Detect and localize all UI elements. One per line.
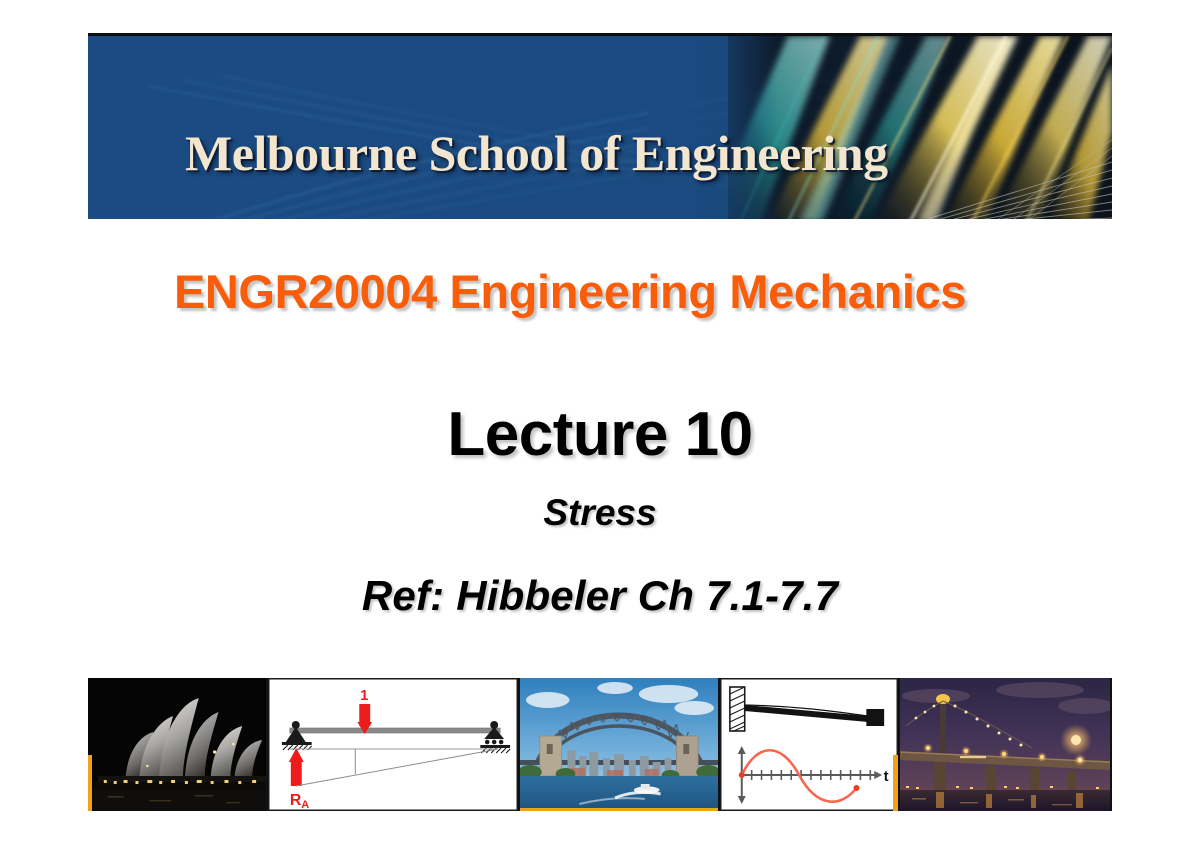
strip-panel-harbour-bridge bbox=[520, 678, 720, 811]
harbour-panel-amber-base bbox=[520, 808, 718, 811]
lecture-topic-subtitle: Stress bbox=[0, 492, 1200, 534]
textbook-reference: Ref: Hibbeler Ch 7.1-7.7 bbox=[0, 572, 1200, 620]
strip-panel-west-gate-bridge bbox=[900, 678, 1110, 811]
slide-canvas: Melbourne School of Engineering ENGR2000… bbox=[0, 0, 1200, 848]
strip-panel-opera-house bbox=[88, 678, 268, 811]
time-axis-label: t bbox=[884, 769, 889, 785]
opera-panel-amber-edge bbox=[88, 755, 92, 811]
lecture-number-title: Lecture 10 bbox=[0, 399, 1200, 470]
course-title: ENGR20004 Engineering Mechanics bbox=[0, 264, 1140, 319]
opera-house-image bbox=[88, 678, 266, 811]
cantilever-panel-amber-edge bbox=[893, 755, 898, 811]
strip-panel-beam-diagram: 1 RA bbox=[268, 678, 520, 811]
beam-load-label: 1 bbox=[360, 687, 368, 704]
west-gate-bridge-image bbox=[900, 678, 1110, 811]
beam-diagram: 1 RA bbox=[268, 678, 518, 811]
institution-name: Melbourne School of Engineering bbox=[185, 124, 888, 182]
cantilever-vibration-diagram: t bbox=[720, 678, 898, 811]
footer-image-strip: 1 RA bbox=[88, 678, 1112, 811]
institution-banner: Melbourne School of Engineering bbox=[88, 33, 1112, 219]
harbour-bridge-image bbox=[520, 678, 718, 811]
strip-panel-cantilever-diagram: t bbox=[720, 678, 900, 811]
